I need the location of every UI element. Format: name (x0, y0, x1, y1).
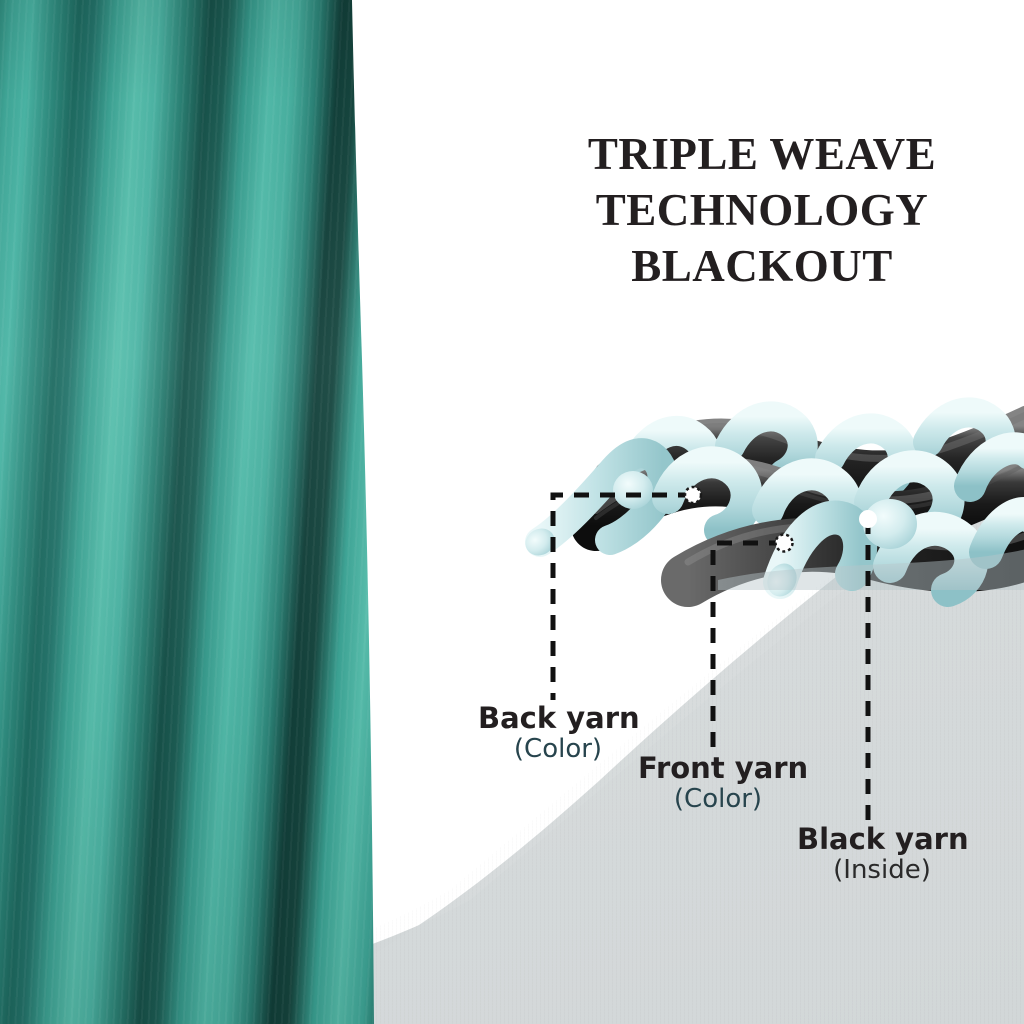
callout-front-yarn-subtitle: (Color) (638, 784, 798, 814)
callout-back-yarn-subtitle: (Color) (478, 734, 638, 764)
callout-black-yarn-subtitle: (Inside) (797, 855, 967, 885)
callout-front-yarn-title: Front yarn (638, 752, 798, 784)
callout-front-yarn: Front yarn (Color) (638, 752, 798, 814)
marker-back-yarn (685, 487, 701, 503)
callout-black-yarn: Black yarn (Inside) (797, 823, 967, 885)
callout-back-yarn-title: Back yarn (478, 702, 638, 734)
callout-back-yarn: Back yarn (Color) (478, 702, 638, 764)
marker-black-yarn (860, 511, 877, 528)
callout-black-yarn-title: Black yarn (797, 823, 967, 855)
product-infographic: TRIPLE WEAVE TECHNOLOGY BLACKOUT (0, 0, 1024, 1024)
marker-front-yarn (776, 535, 793, 552)
leader-line-back-yarn (553, 495, 693, 700)
leader-line-front-yarn (713, 543, 784, 750)
